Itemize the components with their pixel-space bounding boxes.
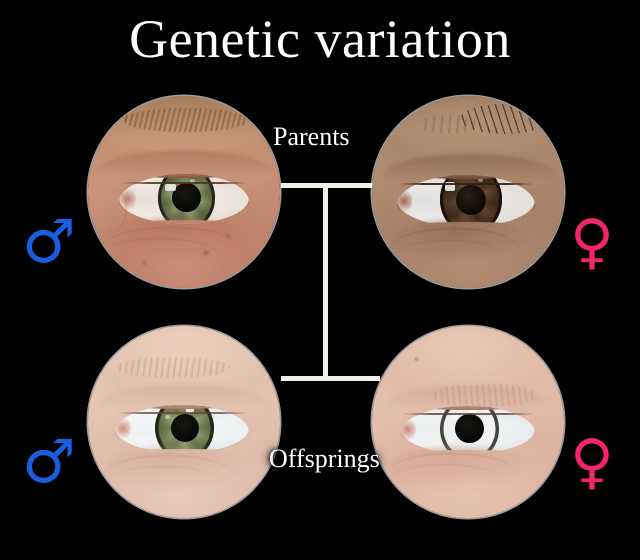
genetic-variation-figure: Genetic variation — [0, 0, 640, 560]
eye-image-offspring-male — [88, 326, 280, 518]
label-parents: Parents — [273, 122, 350, 152]
page-title: Genetic variation — [0, 8, 640, 70]
eye-photo-offspring-male[interactable] — [88, 326, 280, 518]
eye-photo-parent-male[interactable] — [88, 96, 280, 288]
pedigree-line-vertical-descent — [323, 183, 328, 381]
mars-male-symbol-offspring: ♂ — [22, 432, 76, 492]
skin-texture — [372, 326, 564, 518]
label-offsprings: Offsprings — [269, 444, 380, 474]
skin-texture — [372, 96, 564, 288]
pedigree-line-parents-horizontal — [281, 183, 380, 188]
skin-texture — [88, 96, 280, 288]
eye-photo-offspring-female[interactable] — [372, 326, 564, 518]
venus-female-symbol-offspring: ♀ — [570, 432, 614, 492]
eye-image-parent-female — [372, 96, 564, 288]
venus-female-symbol-parent: ♀ — [570, 212, 614, 272]
skin-texture — [88, 326, 280, 518]
eye-photo-parent-female[interactable] — [372, 96, 564, 288]
eye-image-offspring-female — [372, 326, 564, 518]
pedigree-line-offspring-horizontal — [281, 376, 380, 381]
mars-male-symbol-parent: ♂ — [22, 212, 76, 272]
eye-image-parent-male — [88, 96, 280, 288]
